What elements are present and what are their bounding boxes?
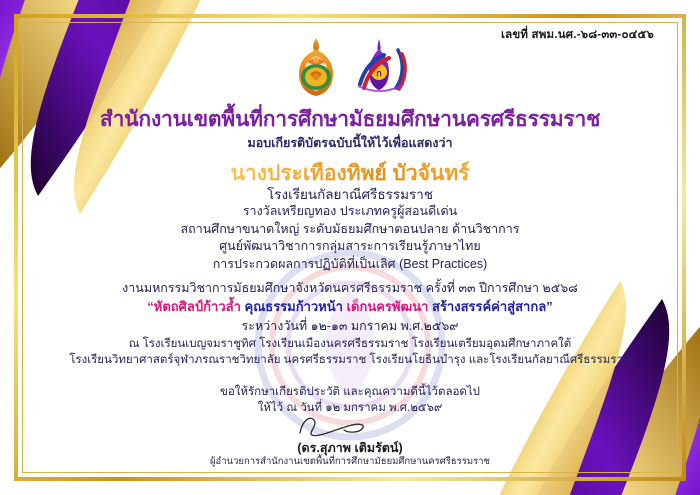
event-venues: ณ โรงเรียนเบญจมราชูทิศ โรงเรียนเมืองนครศ…: [0, 336, 700, 368]
award-details: รางวัลเหรียญทอง ประเภทครูผู้สอนดีเด่น สถ…: [0, 203, 700, 273]
slogan-part: “หัตถศิลป์ก้าวล้ำ: [147, 299, 244, 314]
recipient-school: โรงเรียนกัลยาณีศรีธรรมราช: [0, 183, 700, 205]
award-line: สถานศึกษาขนาดใหญ่ ระดับมัธยมศึกษาตอนปลาย…: [0, 221, 700, 239]
certificate-subtitle: มอบเกียรติบัตรฉบับนี้ให้ไว้เพื่อแสดงว่า: [0, 133, 700, 153]
svg-text:ก: ก: [376, 68, 381, 78]
event-slogan: “หัตถศิลป์ก้าวล้ำ คุณธรรมก้าวหน้า เด็กนค…: [0, 296, 700, 317]
slogan-part: คุณธรรมก้าวหน้า: [245, 299, 347, 314]
signature-icon: [0, 413, 700, 439]
academic-fair-emblem-icon: ก: [348, 36, 410, 98]
logo-row: ก: [0, 36, 700, 98]
slogan-part: สร้างสรรค์ค่าสู่สากล”: [432, 299, 553, 314]
award-line: การประกวดผลการปฏิบัติที่เป็นเลิศ (Best P…: [0, 256, 700, 274]
event-date-range: ระหว่างวันที่ ๑๒-๑๓ มกราคม พ.ศ.๒๕๖๙: [0, 316, 700, 336]
award-line: ศูนย์พัฒนาวิชาการกลุ่มสาระการเรียนรู้ภาษ…: [0, 238, 700, 256]
certificate: เลขที่ สพม.นศ.-๖๘-๓๓-๐๔๕๖: [0, 0, 700, 495]
ministry-of-education-emblem-icon: [290, 36, 342, 98]
slogan-part: เด็กนครพัฒนา: [347, 299, 432, 314]
venue-line: โรงเรียนวิทยาศาสตร์จุฬาภรณราชวิทยาลัย นค…: [0, 352, 700, 368]
signer-title: ผู้อำนวยการสำนักงานเขตพื้นที่การศึกษามัธ…: [0, 454, 700, 469]
award-line: รางวัลเหรียญทอง ประเภทครูผู้สอนดีเด่น: [0, 203, 700, 221]
event-title: งานมหกรรมวิชาการมัธยมศึกษาจังหวัดนครศรีธ…: [0, 278, 700, 298]
venue-line: ณ โรงเรียนเบญจมราชูทิศ โรงเรียนเมืองนครศ…: [0, 336, 700, 352]
organization-title: สำนักงานเขตพื้นที่การศึกษามัธยมศึกษานครศ…: [0, 103, 700, 136]
